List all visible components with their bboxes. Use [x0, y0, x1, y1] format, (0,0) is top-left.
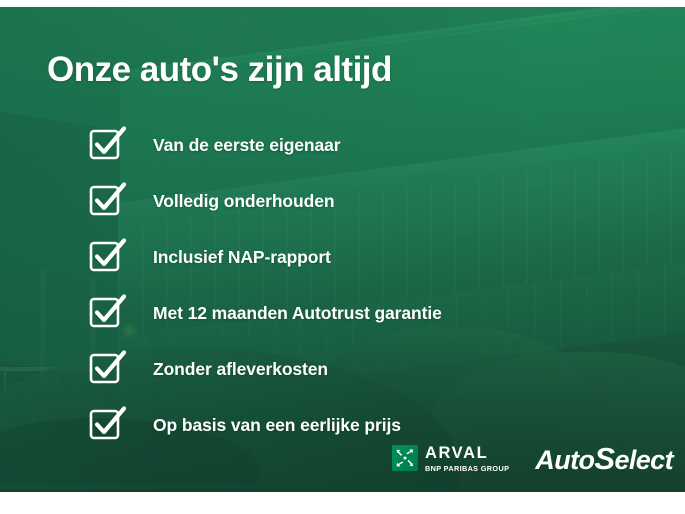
autoselect-part-auto: Auto — [535, 445, 594, 475]
feature-list: Van de eerste eigenaar Volledig onderhou… — [90, 117, 560, 453]
list-item-label: Op basis van een eerlijke prijs — [153, 415, 401, 436]
autoselect-part-elect: elect — [614, 445, 673, 475]
bnp-paribas-stars-icon — [392, 445, 418, 471]
checkbox-checked-icon — [90, 352, 124, 386]
checkbox-checked-icon — [90, 296, 124, 330]
list-item-label: Van de eerste eigenaar — [153, 135, 341, 156]
checkbox-checked-icon — [90, 184, 124, 218]
banner-content: Onze auto's zijn altijd Van de eerste ei… — [0, 7, 685, 492]
list-item: Inclusief NAP-rapport — [90, 229, 560, 285]
list-item: Zonder afleverkosten — [90, 341, 560, 397]
arval-logo: ARVAL BNP PARIBAS GROUP — [392, 445, 509, 472]
checkbox-checked-icon — [90, 408, 124, 442]
list-item-label: Volledig onderhouden — [153, 191, 334, 212]
promo-banner: Onze auto's zijn altijd Van de eerste ei… — [0, 0, 685, 514]
checkbox-checked-icon — [90, 240, 124, 274]
arval-tagline: BNP PARIBAS GROUP — [425, 465, 509, 472]
list-item-label: Met 12 maanden Autotrust garantie — [153, 303, 442, 324]
autoselect-logo: AutoSelect — [535, 443, 673, 474]
list-item: Met 12 maanden Autotrust garantie — [90, 285, 560, 341]
artwork-bottom-edge — [0, 489, 685, 492]
list-item: Van de eerste eigenaar — [90, 117, 560, 173]
banner-artwork: Onze auto's zijn altijd Van de eerste ei… — [0, 7, 685, 492]
list-item-label: Zonder afleverkosten — [153, 359, 328, 380]
logo-bar: ARVAL BNP PARIBAS GROUP AutoSelect — [392, 443, 673, 474]
arval-wordmark: ARVAL BNP PARIBAS GROUP — [425, 445, 509, 472]
checkbox-checked-icon — [90, 128, 124, 162]
list-item: Volledig onderhouden — [90, 173, 560, 229]
arval-name: ARVAL — [425, 445, 509, 462]
page-title: Onze auto's zijn altijd — [47, 50, 392, 90]
list-item-label: Inclusief NAP-rapport — [153, 247, 331, 268]
autoselect-part-s: S — [594, 441, 614, 476]
